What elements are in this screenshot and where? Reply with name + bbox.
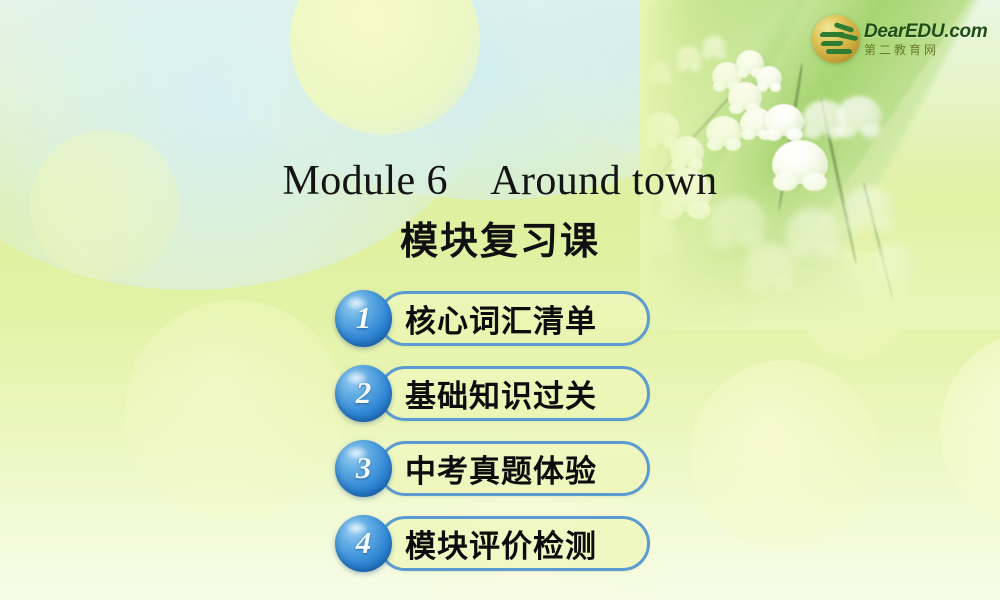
flower-blossom <box>712 62 742 88</box>
slide-title-english: Module 6 Around town <box>0 146 1000 207</box>
agenda-item-label: 模块评价检测 <box>405 516 597 571</box>
agenda-item-2[interactable]: 基础知识过关 2 <box>335 366 665 421</box>
agenda-number: 1 <box>356 300 372 336</box>
agenda-item-label: 基础知识过关 <box>405 366 597 421</box>
slide-subtitle-chinese: 模块复习课 <box>0 210 1000 265</box>
logo-sub-text: 第二教育网 <box>864 44 987 56</box>
agenda-number: 4 <box>356 525 372 561</box>
bokeh-circle <box>290 0 480 135</box>
agenda-number-badge: 3 <box>335 440 392 497</box>
flower-blossom <box>740 108 774 136</box>
presentation-slide: DearEDU.com 第二教育网 Module 6 Around town 模… <box>0 0 1000 600</box>
agenda-item-4[interactable]: 模块评价检测 4 <box>335 516 665 571</box>
agenda-item-1[interactable]: 核心词汇清单 1 <box>335 291 665 346</box>
flower-blossom <box>836 96 882 132</box>
agenda-number-badge: 4 <box>335 515 392 572</box>
agenda-number-badge: 2 <box>335 365 392 422</box>
agenda-number: 3 <box>356 450 372 486</box>
agenda-item-label: 中考真题体验 <box>405 441 597 496</box>
deareedu-logo[interactable]: DearEDU.com 第二教育网 <box>812 14 994 64</box>
agenda-list: 核心词汇清单 1 基础知识过关 2 中考真题体验 3 模块评价检测 4 <box>335 291 665 591</box>
bokeh-circle <box>940 330 1000 530</box>
flower-blossom <box>706 116 742 146</box>
bokeh-circle <box>690 360 880 550</box>
flower-blossom <box>702 36 726 56</box>
agenda-number-badge: 1 <box>335 290 392 347</box>
flower-blossom <box>764 104 804 136</box>
flower-blossom <box>676 46 702 68</box>
agenda-item-3[interactable]: 中考真题体验 3 <box>335 441 665 496</box>
flower-blossom <box>648 62 672 82</box>
agenda-item-label: 核心词汇清单 <box>405 291 597 346</box>
flower-blossom <box>642 112 680 144</box>
flower-blossom <box>736 50 764 74</box>
logo-text-block: DearEDU.com 第二教育网 <box>864 22 987 56</box>
flower-blossom <box>802 100 846 134</box>
logo-main-text: DearEDU.com <box>864 22 987 41</box>
flower-blossom <box>756 66 782 88</box>
bokeh-circle <box>125 300 345 520</box>
flower-blossom <box>728 82 762 110</box>
bokeh-circle <box>540 0 800 160</box>
bokeh-circle <box>800 250 910 360</box>
agenda-number: 2 <box>356 375 372 411</box>
green-swoosh-orb-icon <box>812 15 860 63</box>
